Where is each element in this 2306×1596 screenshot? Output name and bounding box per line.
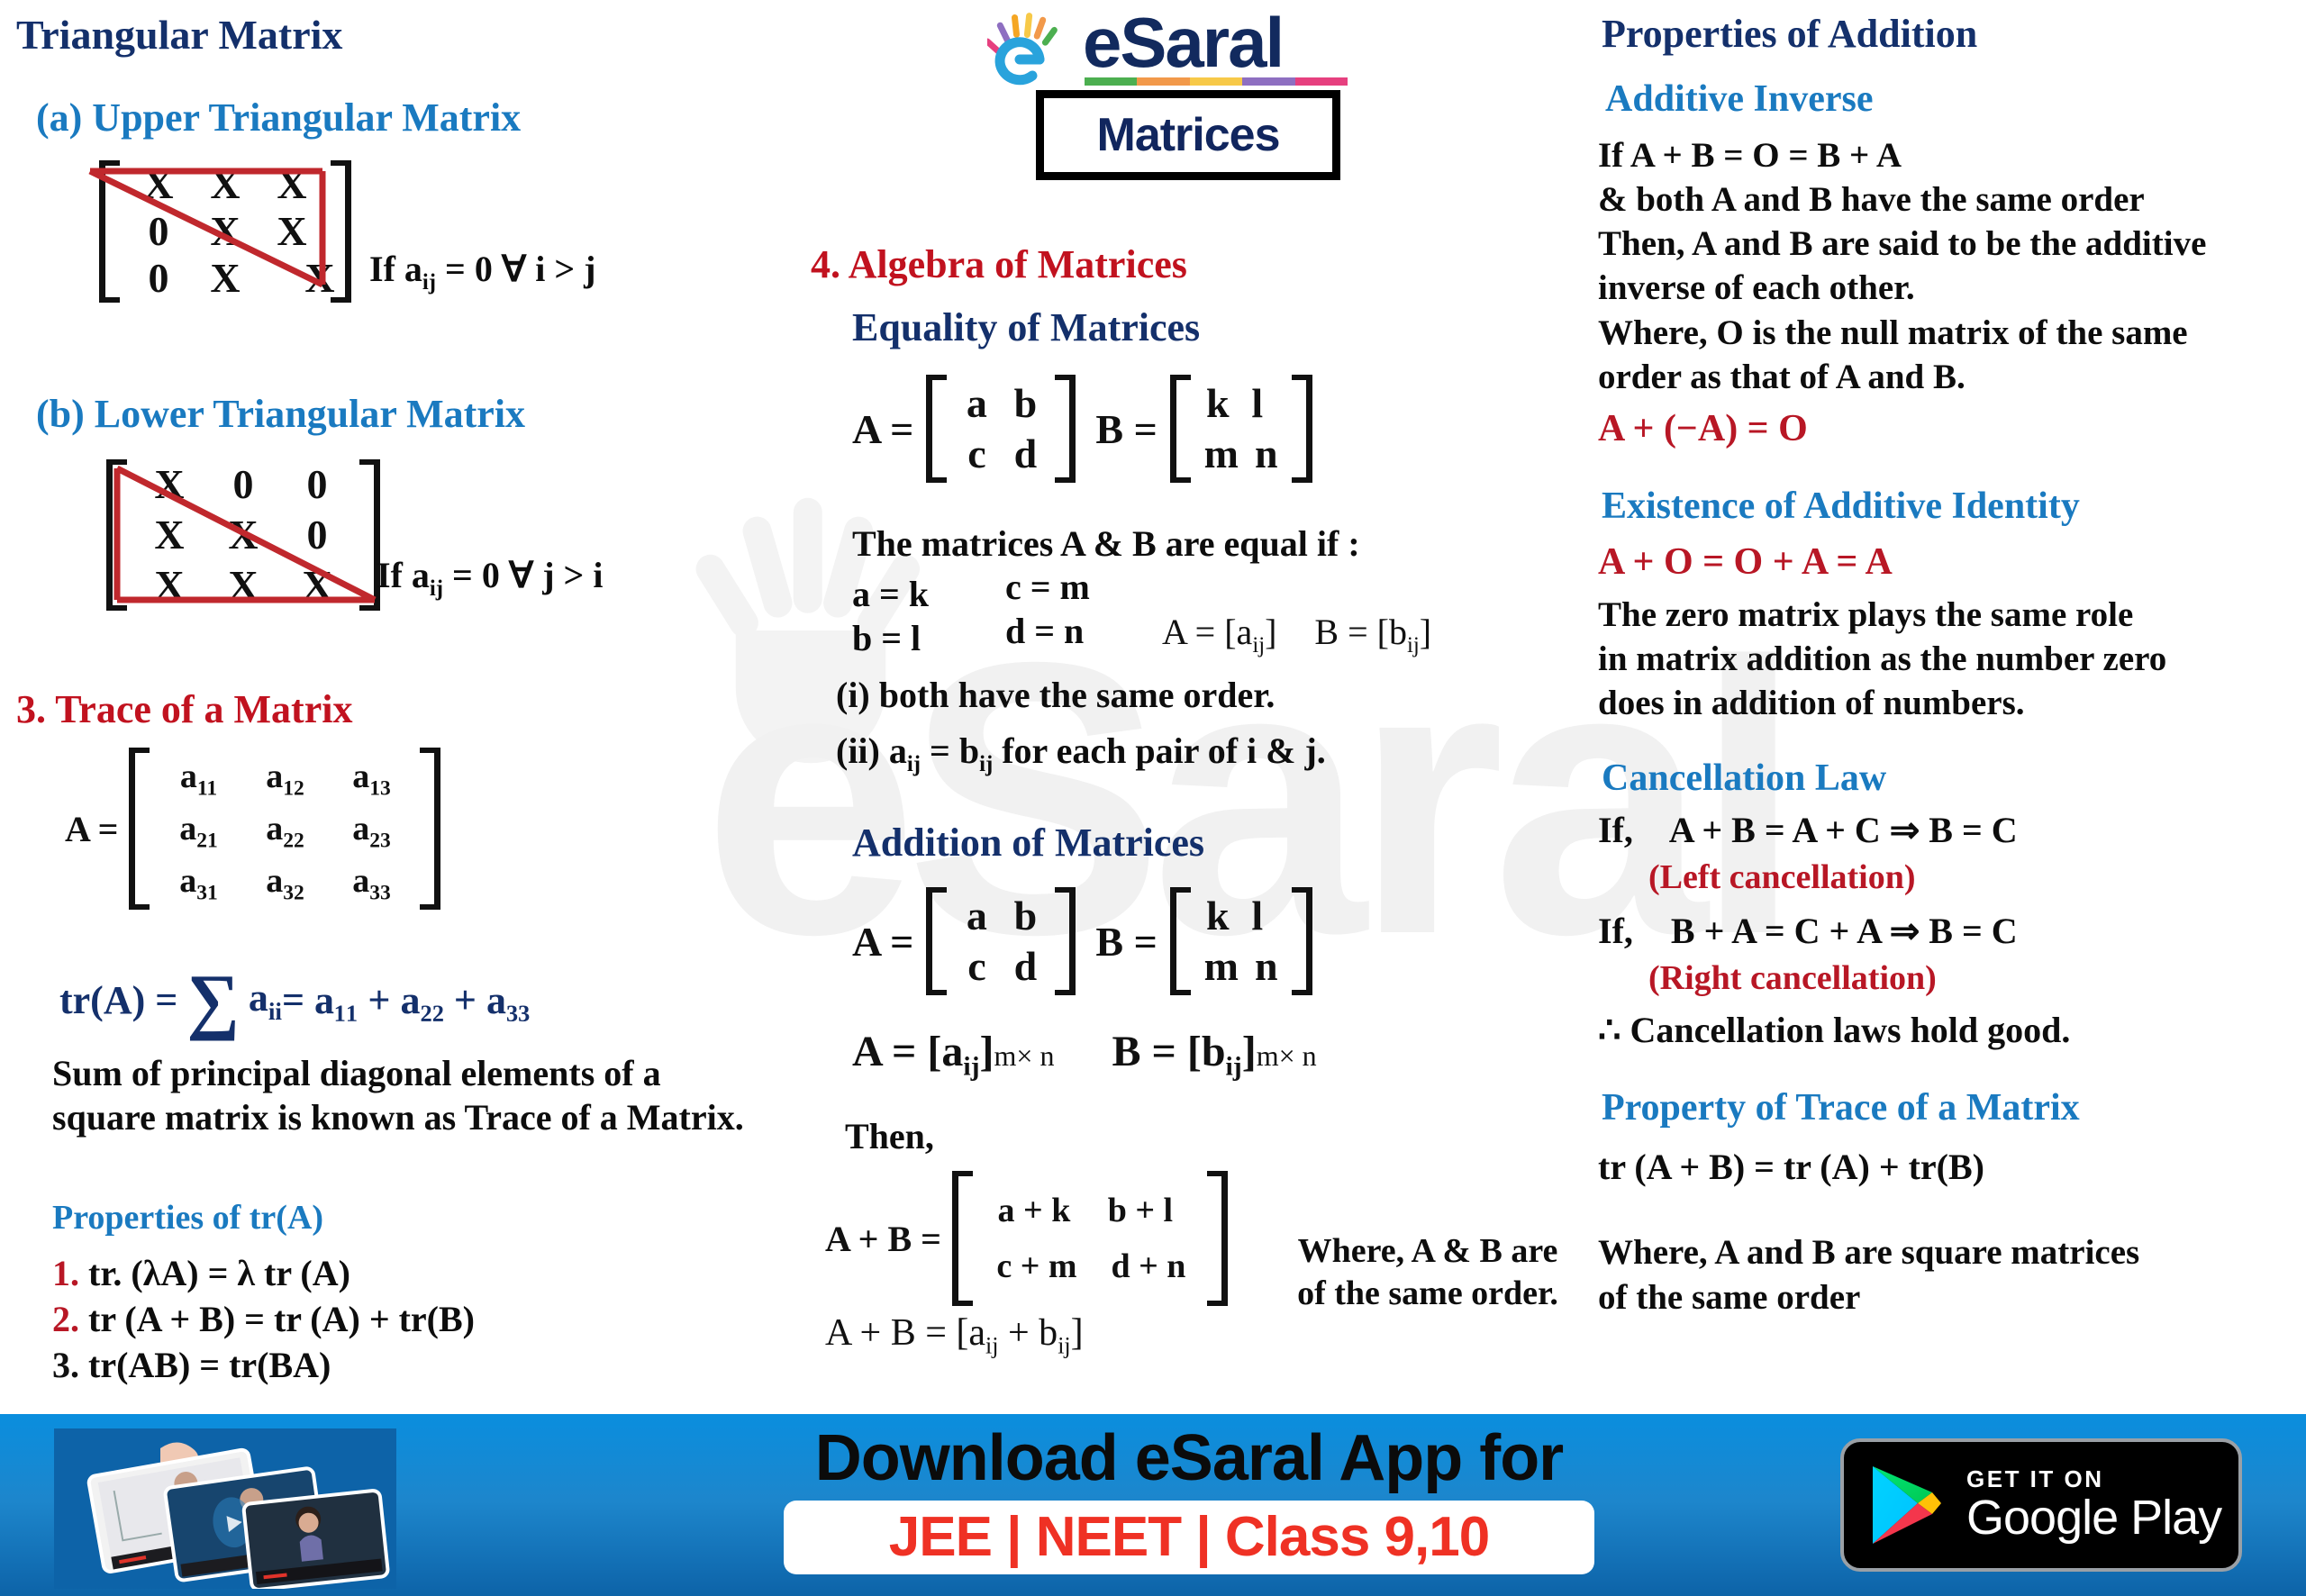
equality-B-label: B = (1095, 405, 1157, 453)
addition-note: Where, A & B are of the same order. (1285, 1230, 1571, 1315)
google-play-triangle-icon (1867, 1463, 1943, 1547)
infographic-sheet: Triangular Matrix (a) Upper Triangular M… (0, 0, 2306, 1414)
equality-pair: b = l (852, 617, 929, 661)
badge-small-text: GET IT ON (1966, 1466, 2221, 1492)
text-line: The zero matrix plays the same role (1598, 593, 2166, 637)
trace-property-formula: tr (A + B) = tr (A) + tr(B) (1598, 1146, 1984, 1188)
trace-matrix-label: A = (65, 808, 118, 850)
additive-inverse-formula: A + (−A) = O (1598, 407, 1808, 450)
equality-pair: d = n (1005, 610, 1090, 654)
equality-heading: Equality of Matrices (852, 304, 1200, 350)
app-promo-banner[interactable]: Download eSaral App for JEE | NEET | Cla… (0, 1414, 2306, 1596)
equality-condition-i: (i) both have the same order. (836, 674, 1275, 716)
trace-property-heading: Property of Trace of a Matrix (1602, 1086, 2080, 1129)
addition-sum-label: A + B = (825, 1218, 941, 1260)
additive-identity-heading: Existence of Additive Identity (1602, 485, 2080, 528)
left-heading: Triangular Matrix (16, 11, 342, 59)
right-heading: Properties of Addition (1602, 11, 1977, 57)
banner-text-block: Download eSaral App for JEE | NEET | Cla… (685, 1425, 1693, 1574)
addition-then-label: Then, (845, 1115, 934, 1157)
text-line: of the same order (1598, 1275, 2139, 1320)
trace-properties-list: 1. tr. (λA) = λ tr (A) 2. tr (A + B) = t… (52, 1250, 475, 1389)
text-line: Where, A and B are square matrices (1598, 1230, 2139, 1275)
equality-matrices: A = ab cd B = kl mn (852, 375, 1312, 483)
trace-properties-heading: Properties of tr(A) (52, 1198, 323, 1238)
additive-identity-formula: A + O = O + A = A (1598, 540, 1893, 584)
text-line: Where, O is the null matrix of the same (1598, 311, 2206, 355)
cancellation-if1-note: (Left cancellation) (1648, 857, 1916, 897)
banner-subline: JEE | NEET | Class 9,10 (889, 1505, 1489, 1569)
additive-inverse-heading: Additive Inverse (1605, 77, 1874, 121)
equality-pair: a = k (852, 573, 929, 617)
equality-pair: c = m (1005, 566, 1090, 610)
text-line: inverse of each other. (1598, 266, 2206, 310)
cancellation-if1: If, A + B = A + C ⇒ B = C (1598, 809, 2018, 851)
cancellation-heading: Cancellation Law (1602, 757, 1886, 800)
addition-heading: Addition of Matrices (852, 820, 1204, 866)
text-line: does in addition of numbers. (1598, 681, 2166, 725)
addition-A-label: A = (852, 918, 913, 966)
equality-A-label: A = (852, 405, 913, 453)
cancellation-conclusion: ∴ Cancellation laws hold good. (1598, 1009, 2070, 1051)
banner-headline: Download eSaral App for (685, 1425, 1693, 1493)
trace-property-item: 1. tr. (λA) = λ tr (A) (52, 1250, 475, 1296)
cancellation-if2: If, B + A = C + A ⇒ B = C (1598, 910, 2018, 952)
trace-property-lines: Where, A and B are square matrices of th… (1598, 1230, 2139, 1320)
equality-intro: The matrices A & B are equal if : (852, 522, 1360, 565)
trace-matrix-block: A = a11a12a13 a21a22a23 a31a32a33 (65, 748, 440, 910)
tablet-in-hand-photo (54, 1428, 396, 1589)
upper-matrix-cell-33: X (286, 254, 353, 302)
text-line: & both A and B have the same order (1598, 177, 2206, 222)
upper-triangular-label: (a) Upper Triangular Matrix (36, 95, 521, 141)
additive-identity-lines: The zero matrix plays the same role in m… (1598, 593, 2166, 725)
equality-pairs-col1: a = k b = l (852, 573, 929, 661)
upper-condition: If aij = 0 ∀ i > j (369, 248, 595, 295)
text-line: order as that of A and B. (1598, 355, 2206, 399)
equality-pairs-col2: c = m d = n (1005, 566, 1090, 654)
google-play-badge-text: GET IT ON Google Play (1966, 1466, 2221, 1543)
text-line: If A + B = O = B + A (1598, 133, 2206, 177)
trace-heading: 3. Trace of a Matrix (16, 686, 352, 732)
google-play-badge[interactable]: GET IT ON Google Play (1840, 1438, 2242, 1572)
addition-B-label: B = (1095, 918, 1157, 966)
additive-inverse-lines: If A + B = O = B + A & both A and B have… (1598, 133, 2206, 399)
lower-triangular-label: (b) Lower Triangular Matrix (36, 391, 525, 437)
cancellation-if2-note: (Right cancellation) (1648, 958, 1937, 998)
banner-subline-pill: JEE | NEET | Class 9,10 (784, 1501, 1594, 1574)
addition-sum-general: A + B = [aij + bij] (825, 1311, 1084, 1359)
algebra-section-heading: 4. Algebra of Matrices (811, 241, 1187, 287)
equality-condition-ii: (ii) aij = bij for each pair of i & j. (836, 730, 1326, 777)
lower-condition: If aij = 0 ∀ j > i (377, 554, 603, 602)
addition-matrices: A = ab cd B = kl mn (852, 887, 1312, 995)
text-line: in matrix addition as the number zero (1598, 637, 2166, 681)
trace-property-item: 3. tr(AB) = tr(BA) (52, 1342, 475, 1388)
equality-notation: A = [aij] B = [bij] (1162, 611, 1431, 658)
trace-formula: tr(A) = ∑ aii = a₁₁ + a₂₂ + a₃₃ (59, 971, 530, 1030)
trace-property-item: 2. tr (A + B) = tr (A) + tr(B) (52, 1296, 475, 1342)
text-line: Then, A and B are said to be the additiv… (1598, 222, 2206, 266)
addition-sum-matrix: A + B = a + kb + l c + md + n (825, 1171, 1228, 1306)
badge-large-text: Google Play (1966, 1492, 2221, 1544)
lower-triangular-matrix: X00 XX0 XXX (106, 459, 380, 611)
addition-order-notation: A = [aij]m× n B = [bij]m× n (852, 1027, 1317, 1083)
trace-description: Sum of principal diagonal elements of a … (52, 1052, 755, 1140)
